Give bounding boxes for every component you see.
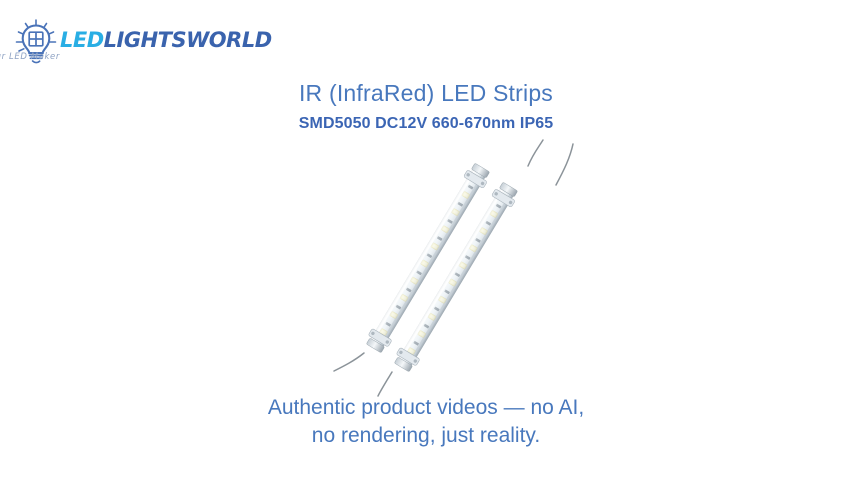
caption-line-2: no rendering, just reality. [0,422,852,450]
page-title: IR (InfraRed) LED Strips [0,80,852,107]
lead-wire-left-top [528,140,543,166]
product-image [330,130,600,400]
brand-name-part2: LIGHTSWORLD [104,28,272,52]
lead-wire-right-bottom [378,372,392,396]
slide-canvas: LEDLIGHTSWORLD Your LED Maker IR (InfraR… [0,0,852,480]
caption-line-1: Authentic product videos — no AI, [0,394,852,422]
brand-name-part1: LED [60,28,104,52]
brand-tagline: Your LED Maker [0,52,60,62]
lead-wire-left-bottom [334,353,364,371]
caption-block: Authentic product videos — no AI, no ren… [0,394,852,450]
lead-wire-right-top [556,144,573,185]
brand-logo[interactable]: LEDLIGHTSWORLD Your LED Maker [14,16,60,64]
